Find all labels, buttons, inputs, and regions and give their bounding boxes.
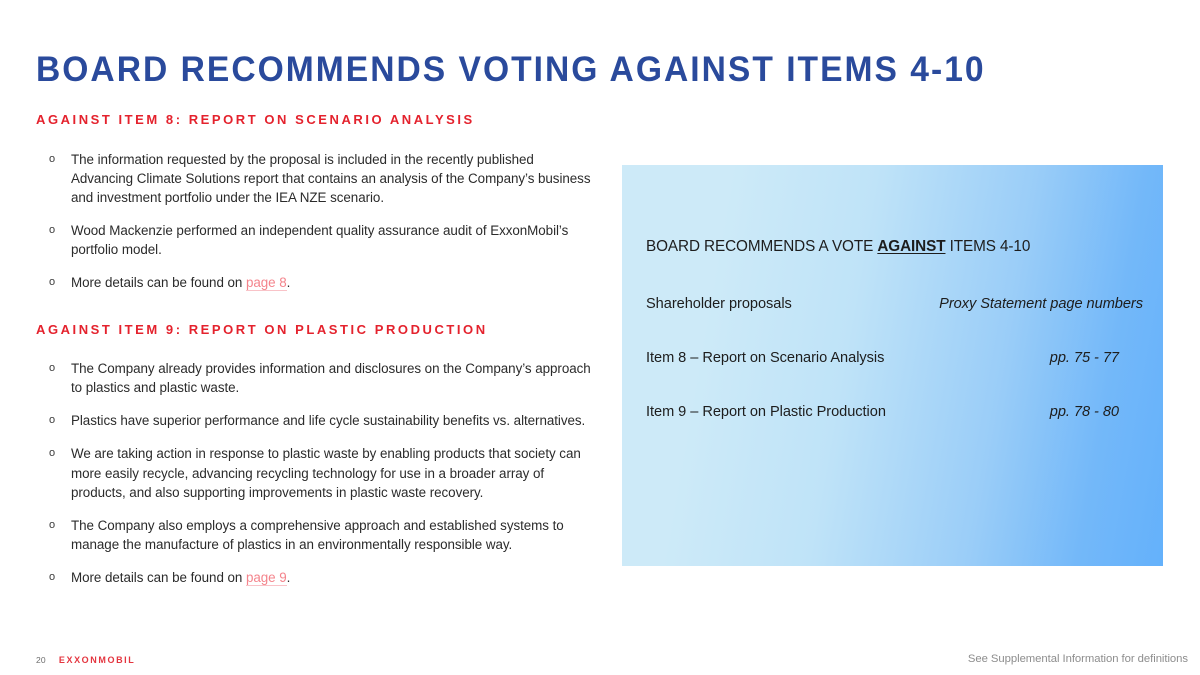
row-value: pp. 78 - 80 xyxy=(1050,404,1119,420)
bullet-marker-icon: o xyxy=(49,273,55,292)
bullet-marker-icon: o xyxy=(49,150,55,169)
row-value: pp. 75 - 77 xyxy=(1050,350,1119,366)
bullet-marker-icon: o xyxy=(49,359,55,378)
footer-note: See Supplemental Information for definit… xyxy=(968,653,1188,665)
panel-heading: BOARD RECOMMENDS A VOTE AGAINST ITEMS 4-… xyxy=(646,238,1030,256)
list-item: o The information requested by the propo… xyxy=(36,150,596,207)
panel-heading-suffix: ITEMS 4-10 xyxy=(945,238,1030,255)
row-label: Item 8 – Report on Scenario Analysis xyxy=(646,350,884,366)
list-item-text: Plastics have superior performance and l… xyxy=(71,413,585,428)
bullet-marker-icon: o xyxy=(49,444,55,463)
list-item-text: We are taking action in response to plas… xyxy=(71,446,581,499)
list-item-text: The Company already provides information… xyxy=(71,361,591,395)
section-heading-item-9: AGAINST ITEM 9: REPORT ON PLASTIC PRODUC… xyxy=(36,322,596,338)
footer-left: 20 EXXONMOBIL xyxy=(36,655,135,665)
left-content-column: AGAINST ITEM 8: REPORT ON SCENARIO ANALY… xyxy=(36,112,596,587)
page-title: BOARD RECOMMENDS VOTING AGAINST ITEMS 4-… xyxy=(36,49,986,90)
panel-heading-emphasis: AGAINST xyxy=(877,238,945,255)
list-item: o Wood Mackenzie performed an independen… xyxy=(36,221,596,259)
table-row: Item 8 – Report on Scenario Analysis pp.… xyxy=(646,350,1143,366)
row-label: Item 9 – Report on Plastic Production xyxy=(646,404,886,420)
list-item-text: More details can be found on xyxy=(71,570,246,585)
page-9-link[interactable]: page 9 xyxy=(246,570,287,586)
bullet-marker-icon: o xyxy=(49,568,55,587)
list-item-text: More details can be found on xyxy=(71,275,246,290)
column-header-proposals: Shareholder proposals xyxy=(646,296,792,312)
bullet-list-item-8: o The information requested by the propo… xyxy=(36,150,596,292)
bullet-marker-icon: o xyxy=(49,411,55,430)
brand-logo-text: EXXONMOBIL xyxy=(59,655,136,665)
panel-column-headers: Shareholder proposals Proxy Statement pa… xyxy=(646,296,1143,312)
list-item: o Plastics have superior performance and… xyxy=(36,411,596,430)
bullet-marker-icon: o xyxy=(49,516,55,535)
list-item-text: The information requested by the proposa… xyxy=(71,152,590,205)
page-8-link[interactable]: page 8 xyxy=(246,275,287,291)
table-row: Item 9 – Report on Plastic Production pp… xyxy=(646,404,1143,420)
panel-heading-prefix: BOARD RECOMMENDS A VOTE xyxy=(646,238,877,255)
list-item: o More details can be found on page 8. xyxy=(36,273,596,292)
panel-inner: BOARD RECOMMENDS A VOTE AGAINST ITEMS 4-… xyxy=(646,165,1143,566)
bullet-marker-icon: o xyxy=(49,221,55,240)
list-item: o We are taking action in response to pl… xyxy=(36,444,596,501)
list-item: o The Company already provides informati… xyxy=(36,359,596,397)
list-item-text-suffix: . xyxy=(287,570,291,585)
list-item-text-suffix: . xyxy=(287,275,291,290)
list-item: o More details can be found on page 9. xyxy=(36,568,596,587)
bullet-list-item-9: o The Company already provides informati… xyxy=(36,359,596,586)
list-item: o The Company also employs a comprehensi… xyxy=(36,516,596,554)
list-item-text: Wood Mackenzie performed an independent … xyxy=(71,223,568,257)
column-header-page-numbers: Proxy Statement page numbers xyxy=(939,296,1143,312)
slide-page-number: 20 xyxy=(36,655,46,665)
list-item-text: The Company also employs a comprehensive… xyxy=(71,518,564,552)
board-recommendation-panel: BOARD RECOMMENDS A VOTE AGAINST ITEMS 4-… xyxy=(622,165,1163,566)
section-heading-item-8: AGAINST ITEM 8: REPORT ON SCENARIO ANALY… xyxy=(36,112,596,128)
slide: BOARD RECOMMENDS VOTING AGAINST ITEMS 4-… xyxy=(0,0,1200,675)
